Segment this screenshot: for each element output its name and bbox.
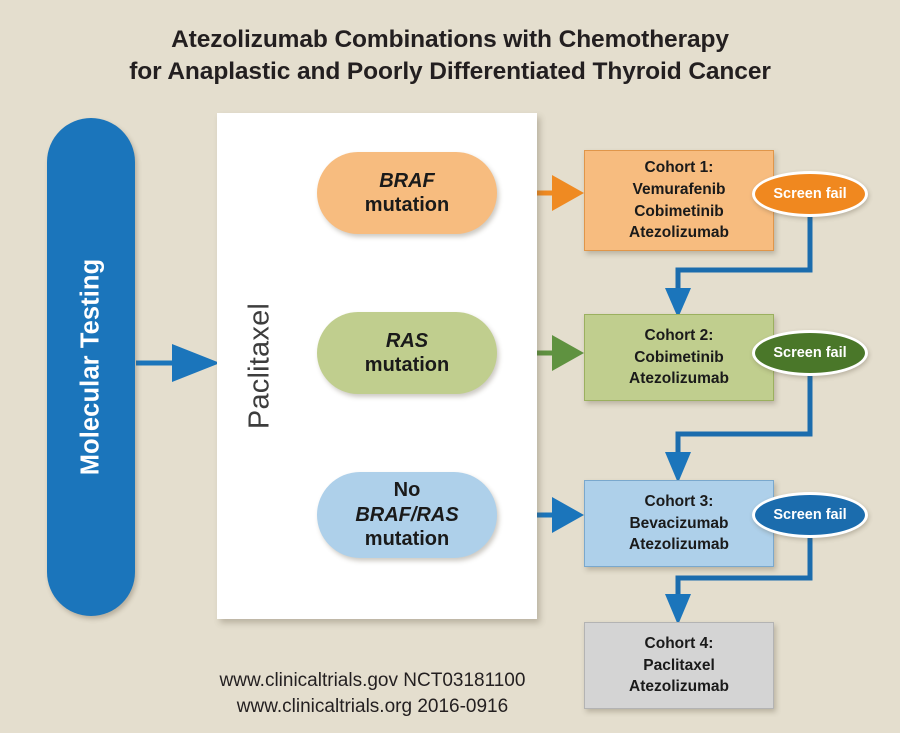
screen-fail-label-1: Screen fail xyxy=(773,186,846,202)
branch-braf-gene: BRAF xyxy=(379,169,435,193)
branch-nobrafras-line3: mutation xyxy=(365,527,449,551)
molecular-testing-label: Molecular Testing xyxy=(77,259,106,476)
arrow-molecular-to-paclitaxel xyxy=(136,344,220,382)
branch-node-no-braf-ras[interactable]: No BRAF/RAS mutation xyxy=(317,472,497,558)
trial-registration-footer: www.clinicaltrials.gov NCT03181100 www.c… xyxy=(0,668,745,720)
branch-nobrafras-line1: No xyxy=(394,478,421,502)
branch-node-ras[interactable]: RAS mutation xyxy=(317,312,497,394)
branch-ras-line2: mutation xyxy=(365,353,449,377)
cohort-2-drug-2: Atezolizumab xyxy=(629,368,729,390)
cohort-1-drug-2: Cobimetinib xyxy=(634,201,724,223)
molecular-testing-node[interactable]: Molecular Testing xyxy=(47,118,135,616)
screen-fail-label-3: Screen fail xyxy=(773,507,846,523)
cohort-2-drug-1: Cobimetinib xyxy=(634,347,724,369)
screen-fail-badge-cohort3[interactable]: Screen fail xyxy=(752,492,868,538)
footer-line-1: www.clinicaltrials.gov NCT03181100 xyxy=(0,668,745,694)
cohort-1-drug-3: Atezolizumab xyxy=(629,222,729,244)
cohort-3-title: Cohort 3: xyxy=(645,491,714,513)
cohort-1-box[interactable]: Cohort 1: Vemurafenib Cobimetinib Atezol… xyxy=(584,150,774,251)
cohort-3-drug-1: Bevacizumab xyxy=(629,513,728,535)
footer-line-2: www.clinicaltrials.org 2016-0916 xyxy=(0,694,745,720)
screen-fail-badge-cohort1[interactable]: Screen fail xyxy=(752,171,868,217)
screen-fail-label-2: Screen fail xyxy=(773,345,846,361)
cohort-1-title: Cohort 1: xyxy=(645,157,714,179)
paclitaxel-label: Paclitaxel xyxy=(244,303,277,429)
screen-fail-badge-cohort2[interactable]: Screen fail xyxy=(752,330,868,376)
cohort-4-title: Cohort 4: xyxy=(645,633,714,655)
branch-ras-gene: RAS xyxy=(386,329,428,353)
branch-nobrafras-gene: BRAF/RAS xyxy=(355,503,458,527)
branch-node-braf[interactable]: BRAF mutation xyxy=(317,152,497,234)
cohort-1-drug-1: Vemurafenib xyxy=(632,179,725,201)
cohort-2-title: Cohort 2: xyxy=(645,325,714,347)
cohort-2-box[interactable]: Cohort 2: Cobimetinib Atezolizumab xyxy=(584,314,774,401)
cohort-3-box[interactable]: Cohort 3: Bevacizumab Atezolizumab xyxy=(584,480,774,567)
cohort-3-drug-2: Atezolizumab xyxy=(629,534,729,556)
branch-braf-line2: mutation xyxy=(365,193,449,217)
diagram-canvas: Atezolizumab Combinations with Chemother… xyxy=(0,0,900,733)
